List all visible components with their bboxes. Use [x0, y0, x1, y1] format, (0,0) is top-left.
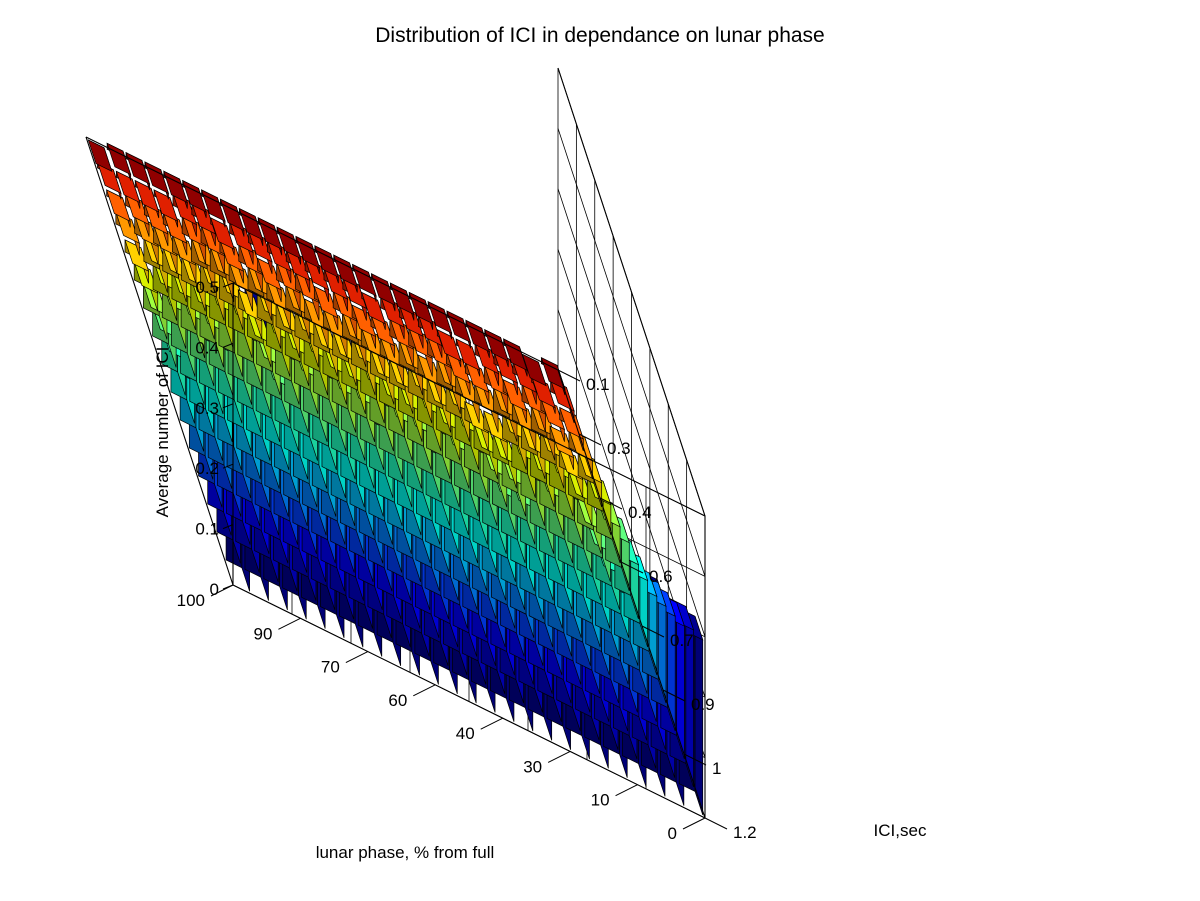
z-tick-label: 0: [210, 580, 219, 599]
x-tick-label: 90: [254, 624, 273, 643]
x-tick-label: 10: [591, 791, 610, 810]
z-tick-label: 0.5: [195, 278, 219, 297]
x-axis-label: lunar phase, % from full: [316, 843, 495, 862]
y-tick-label: 0.9: [691, 695, 715, 714]
x-tick-label: 0: [668, 824, 677, 843]
figure-canvas: 00.10.20.30.40.510090706040301000.10.30.…: [0, 0, 1200, 901]
y-tick-label: 0.1: [586, 375, 610, 394]
bar-face: [695, 616, 703, 815]
y-tick-label: 1: [712, 759, 721, 778]
x-tick-label: 70: [321, 658, 340, 677]
x-tick-label: 60: [388, 691, 407, 710]
chart-title: Distribution of ICI in dependance on lun…: [375, 24, 824, 47]
z-tick-label: 0.3: [195, 399, 219, 418]
z-axis-label: Average number of ICI: [153, 347, 172, 518]
x-tick-label: 40: [456, 724, 475, 743]
y-tick-label: 0.6: [649, 567, 673, 586]
x-tick-label: 30: [523, 757, 542, 776]
y-tick-label: 1.2: [733, 823, 757, 842]
y-tick-label: 0.3: [607, 439, 631, 458]
y-tick-label: 0.7: [670, 631, 694, 650]
x-tick-label: 100: [177, 591, 205, 610]
z-tick-label: 0.1: [195, 520, 219, 539]
y-axis-label: ICI,sec: [874, 821, 927, 840]
z-tick-label: 0.4: [195, 338, 219, 357]
z-tick-label: 0.2: [195, 459, 219, 478]
y-tick-label: 0.4: [628, 503, 652, 522]
bar3-chart-svg: 00.10.20.30.40.510090706040301000.10.30.…: [0, 0, 1200, 901]
